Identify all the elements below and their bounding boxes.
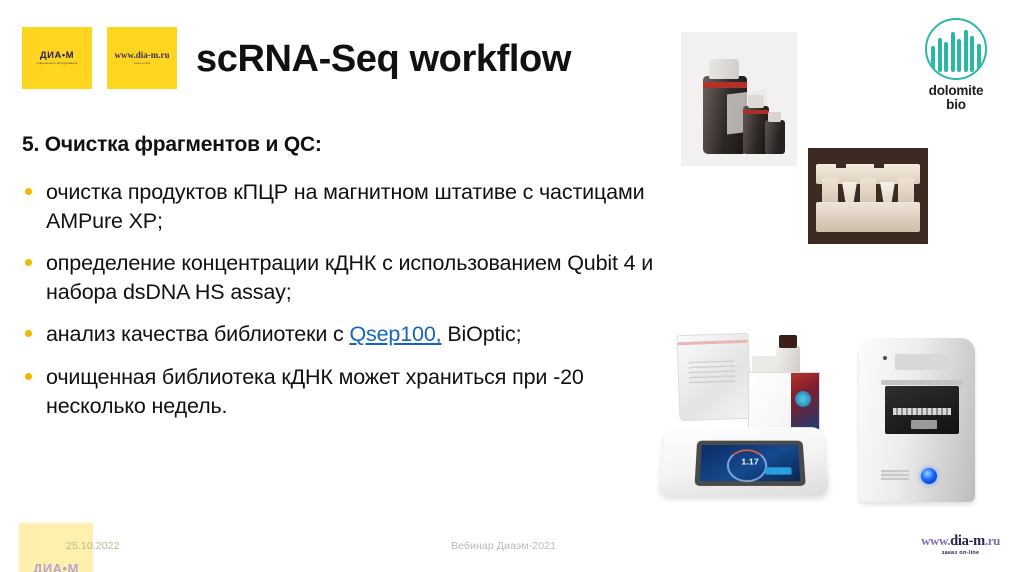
list-item: определение концентрации кДНК с использо…	[22, 249, 667, 306]
list-item: очистка продуктов кПЦР на магнитном штат…	[22, 178, 667, 235]
watermark-www: www.	[921, 534, 950, 547]
diam-logo: ДИА•М современное оборудование	[22, 27, 92, 89]
qsep-indicator-led-icon	[883, 356, 887, 360]
qubit-instrument-body: 1.17	[659, 427, 830, 495]
reagent-bottle-small	[765, 120, 785, 154]
qsep-power-led-icon	[921, 468, 937, 484]
qsep-sample-window	[885, 386, 959, 434]
box-artwork	[791, 373, 819, 429]
qsep100-bioanalyzer-photo	[845, 332, 991, 512]
magnetic-rack-photo	[808, 148, 928, 244]
bullet-text: очистка продуктов кПЦР на магнитном штат…	[46, 180, 644, 233]
slide-title: scRNA-Seq workflow	[196, 38, 571, 81]
qsep-slot-bar	[881, 380, 963, 385]
screen-reading-value: 1.17	[701, 457, 800, 466]
dsdna-hs-assay-box	[748, 372, 820, 430]
dolomite-wordmark: dolomite bio	[929, 84, 984, 112]
screen-action-button	[765, 467, 792, 474]
watermark-tld: .ru	[985, 534, 1000, 547]
watermark-url-row: www. dia-m .ru	[921, 534, 1000, 549]
footer-event-label: Вебинар Диаэм-2021	[451, 540, 556, 552]
bullet-text: анализ качества библиотеки с	[46, 322, 349, 346]
dolomite-line-1: dolomite	[929, 84, 984, 98]
bullet-text-tail: BiOptic;	[442, 322, 522, 346]
footer-diam-logo-text: ДИА•М	[33, 562, 79, 572]
diam-website-logo: www.dia-m.ru заказ on-line	[107, 27, 177, 89]
bullet-dot-icon	[25, 330, 32, 337]
assay-kit-bag	[677, 333, 752, 421]
watermark-subtitle: заказ on-line	[942, 551, 980, 557]
bullet-dot-icon	[25, 259, 32, 266]
watermark-domain: dia-m	[950, 534, 985, 549]
bag-label	[688, 360, 735, 384]
bullet-text: определение концентрации кДНК с использо…	[46, 251, 653, 304]
diam-logo-text: ДИА•М	[40, 51, 74, 61]
bullet-text: очищенная библиотека кДНК может хранитьс…	[46, 365, 584, 418]
dia-m-watermark: www. dia-m .ru заказ on-line	[921, 534, 1000, 556]
qsep-instrument-body	[859, 338, 975, 502]
diam-website-subtitle: заказ on-line	[134, 62, 151, 65]
dolomite-bars-icon	[931, 30, 981, 78]
dolomite-bio-logo: dolomite bio	[908, 18, 1004, 112]
qubit-4-fluorometer-photo: 1.17	[656, 330, 841, 512]
dolomite-line-2: bio	[929, 98, 984, 112]
bullet-dot-icon	[25, 373, 32, 380]
qsep100-hyperlink[interactable]: Qsep100,	[349, 322, 441, 346]
qsep-vent-grille	[881, 470, 909, 480]
qsep-inner-module	[911, 420, 937, 429]
diam-website-url: www.dia-m.ru	[114, 51, 169, 60]
bullet-list: очистка продуктов кПЦР на магнитном штат…	[22, 178, 667, 434]
list-item: очищенная библиотека кДНК может хранитьс…	[22, 363, 667, 420]
rack-notch	[836, 158, 846, 168]
qsep-front-label	[895, 354, 949, 370]
list-item: анализ качества библиотеки с Qsep100, Bi…	[22, 320, 667, 349]
bullet-dot-icon	[25, 188, 32, 195]
footer-date: 25.10.2022	[66, 540, 120, 552]
rack-base	[816, 202, 920, 232]
qubit-touchscreen: 1.17	[695, 441, 806, 486]
rack-notch	[874, 158, 884, 168]
qsep-sample-tray	[893, 408, 951, 415]
reagent-bottle-large	[703, 76, 747, 154]
diam-logo-subtitle: современное оборудование	[36, 62, 77, 65]
dolomite-circle-icon	[925, 18, 987, 80]
section-heading: 5. Очистка фрагментов и QC:	[22, 133, 322, 157]
slide: ДИА•М современное оборудование www.dia-m…	[0, 0, 1024, 572]
ampure-xp-bottles-photo	[681, 32, 797, 166]
